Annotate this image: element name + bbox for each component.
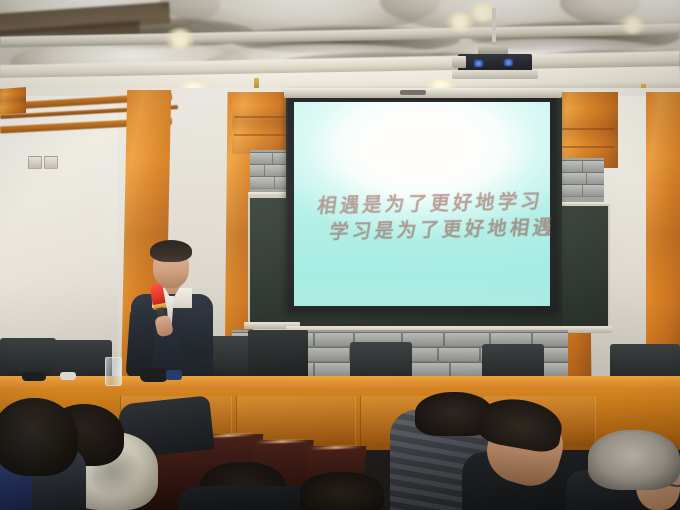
wood-trim-corner-left [0, 87, 26, 115]
projector-base-plate [452, 70, 538, 79]
wall-switch-plate-right[interactable] [44, 156, 58, 169]
projection-screen-roller-cap [400, 90, 426, 95]
presenter [126, 240, 218, 390]
recessed-light-1 [165, 28, 195, 50]
screen-text-line-2: 学习是为了更好地相遇 [328, 213, 557, 245]
chair-back-podium-equipment [248, 330, 308, 378]
audience-member-gray-hair [588, 430, 680, 490]
white-device-left[interactable] [60, 372, 76, 380]
blue-device[interactable] [166, 370, 182, 380]
audience-member-center-head [300, 472, 384, 510]
chalkboard-right [560, 204, 610, 332]
projector-led-left [474, 60, 483, 67]
wood-header-groove-right-2 [558, 146, 614, 148]
dark-device-right[interactable] [140, 368, 168, 382]
dark-device-left[interactable] [22, 372, 46, 381]
wood-header-right [556, 92, 618, 168]
projector-lens [452, 56, 466, 68]
audience-member-front-left-hair [0, 398, 78, 476]
presenter-hair [150, 240, 192, 262]
projector-mount-rod [492, 8, 496, 42]
stone-wall-upper-right [562, 158, 604, 204]
recessed-light-6 [620, 16, 646, 34]
water-glass[interactable] [105, 357, 122, 386]
projector-led-right [504, 59, 513, 66]
wall-switch-plate-left[interactable] [28, 156, 42, 169]
ceiling-projector [452, 40, 538, 78]
lecture-hall-photograph: 相遇是为了更好地学习 学习是为了更好地相遇 [0, 0, 680, 510]
wood-header-groove-left [234, 116, 292, 118]
wood-header-groove-right [558, 128, 614, 130]
wood-header-groove-left-2 [234, 134, 292, 136]
